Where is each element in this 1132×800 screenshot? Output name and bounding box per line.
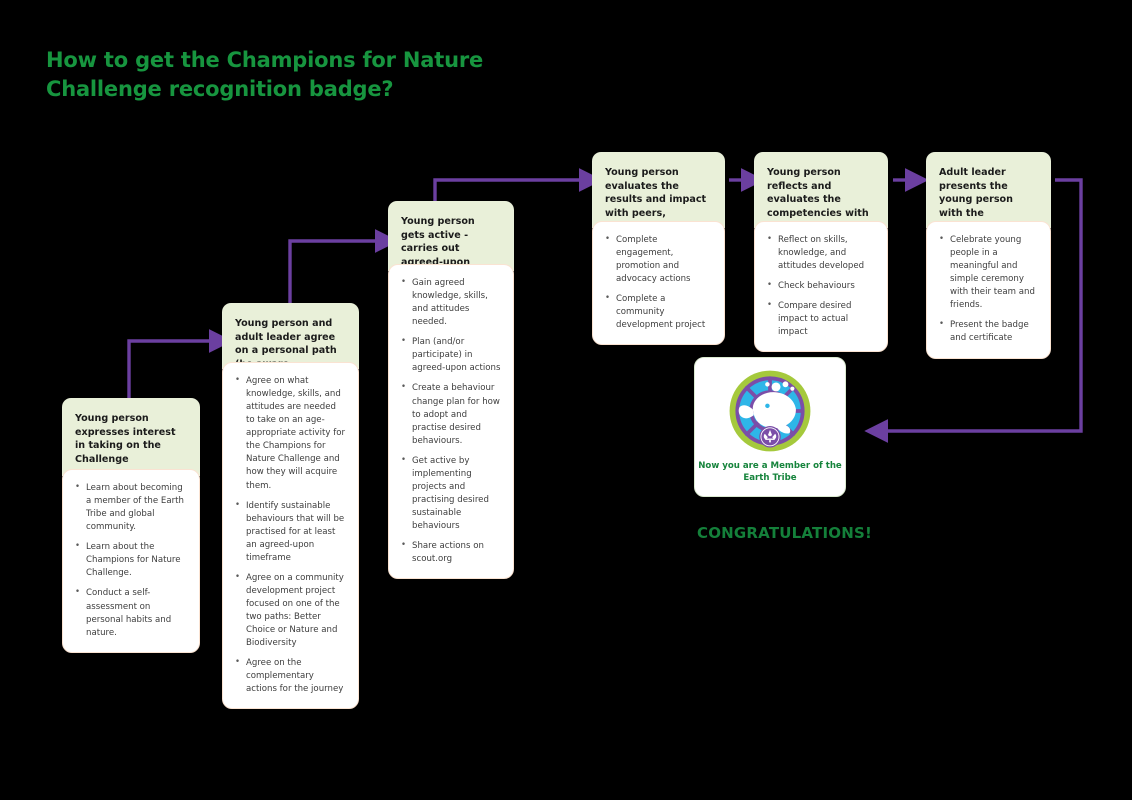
- list-item: Learn about becoming a member of the Ear…: [75, 482, 188, 534]
- badge-card[interactable]: Now you are a Member of the Earth Tribe: [694, 357, 846, 497]
- flow-step-3-heading: Young person gets active - carries out a…: [388, 201, 514, 271]
- list-item: Check behaviours: [767, 280, 876, 293]
- list-item: Agree on what knowledge, skills, and att…: [235, 375, 347, 493]
- list-item: Get active by implementing projects and …: [401, 455, 502, 533]
- flow-step-5-body: Reflect on skills, knowledge, and attitu…: [754, 221, 888, 352]
- list-item: Agree on a community development project…: [235, 572, 347, 650]
- list-item: Reflect on skills, knowledge, and attitu…: [767, 234, 876, 273]
- list-item: Complete engagement, promotion and advoc…: [605, 234, 713, 286]
- flow-step-4-body: Complete engagement, promotion and advoc…: [592, 221, 725, 345]
- list-item: Create a behaviour change plan for how t…: [401, 382, 502, 447]
- page-title: How to get the Champions for Nature Chal…: [46, 46, 566, 104]
- flow-step-5[interactable]: Young person reflects and evaluates the …: [754, 152, 888, 352]
- congratulations-text: CONGRATULATIONS!: [697, 524, 872, 542]
- flow-step-1-heading: Young person expresses interest in takin…: [62, 398, 200, 476]
- list-item: Conduct a self-assessment on personal ha…: [75, 587, 188, 639]
- list-item: Plan (and/or participate) in agreed-upon…: [401, 336, 502, 375]
- flow-step-2-body: Agree on what knowledge, skills, and att…: [222, 362, 359, 709]
- list-item: Agree on the complementary actions for t…: [235, 657, 347, 696]
- arrow-step2-to-step3: [290, 241, 379, 304]
- list-item: Identify sustainable behaviours that wil…: [235, 500, 347, 565]
- flow-step-6[interactable]: Adult leader presents the young person w…: [926, 152, 1051, 359]
- badge-caption: Now you are a Member of the Earth Tribe: [695, 460, 845, 484]
- flow-step-6-body: Celebrate young people in a meaningful a…: [926, 221, 1051, 359]
- flow-step-1-body: Learn about becoming a member of the Ear…: [62, 469, 200, 653]
- flow-step-4-heading: Young person evaluates the results and i…: [592, 152, 725, 228]
- list-item: Complete a community development project: [605, 293, 713, 332]
- flow-step-5-heading: Young person reflects and evaluates the …: [754, 152, 888, 228]
- flow-step-6-heading: Adult leader presents the young person w…: [926, 152, 1051, 228]
- flow-step-3[interactable]: Young person gets active - carries out a…: [388, 201, 514, 579]
- list-item: Learn about the Champions for Nature Cha…: [75, 541, 188, 580]
- flow-step-2[interactable]: Young person and adult leader agree on a…: [222, 303, 359, 709]
- flow-step-2-heading: Young person and adult leader agree on a…: [222, 303, 359, 369]
- list-item: Present the badge and certificate: [939, 319, 1039, 345]
- earth-tribe-badge-emblem-icon: [727, 368, 813, 454]
- list-item: Celebrate young people in a meaningful a…: [939, 234, 1039, 312]
- flow-step-4[interactable]: Young person evaluates the results and i…: [592, 152, 725, 345]
- flow-step-1[interactable]: Young person expresses interest in takin…: [62, 398, 200, 653]
- arrow-step3-to-step4: [435, 180, 583, 203]
- flow-step-3-body: Gain agreed knowledge, skills, and attit…: [388, 264, 514, 579]
- arrow-step1-to-step2: [129, 341, 213, 400]
- list-item: Share actions on scout.org: [401, 540, 502, 566]
- list-item: Gain agreed knowledge, skills, and attit…: [401, 277, 502, 329]
- list-item: Compare desired impact to actual impact: [767, 300, 876, 339]
- diagram-canvas: How to get the Champions for Nature Chal…: [0, 0, 1132, 800]
